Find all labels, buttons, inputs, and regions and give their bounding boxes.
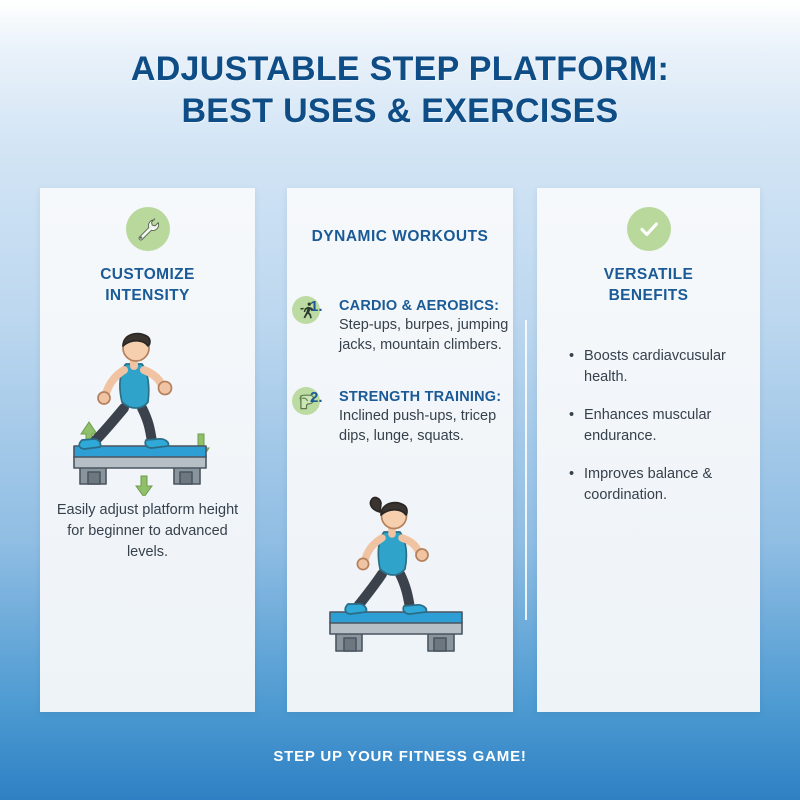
left-column-heading: CUSTOMIZE INTENSITY <box>48 264 247 306</box>
column-card-dynamic-workouts: DYNAMIC WORKOUTS 1. CARDIO & AEROBICS: <box>287 188 513 712</box>
list-item: Boosts cardiavcusular health. <box>569 346 749 388</box>
title-line-2: BEST USES & EXERCISES <box>0 90 800 132</box>
list-item: Improves balance & coordination. <box>569 464 749 506</box>
title-line-1: ADJUSTABLE STEP PLATFORM: <box>0 48 800 90</box>
wrench-icon <box>126 207 170 251</box>
list-item: 1. CARDIO & AEROBICS: Step-ups, burpes, … <box>289 298 513 355</box>
workout-list: 1. CARDIO & AEROBICS: Step-ups, burpes, … <box>289 298 513 470</box>
footer-text: STEP UP YOUR FITNESS GAME! <box>273 748 526 765</box>
list-item-body: Inclined push-ups, tricep dips, lunge, s… <box>339 406 513 446</box>
infographic-poster: ADJUSTABLE STEP PLATFORM: BEST USES & EX… <box>0 0 800 800</box>
right-heading-line-2: BENEFITS <box>545 285 752 306</box>
list-item: 2. STRENGTH TRAINING: Inclined push-ups,… <box>289 389 513 446</box>
footer-banner: STEP UP YOUR FITNESS GAME! <box>0 712 800 800</box>
check-badge <box>537 207 760 251</box>
column-divider-2 <box>525 320 527 620</box>
columns-container: CUSTOMIZE INTENSITY <box>40 188 760 712</box>
column-card-customize-intensity: CUSTOMIZE INTENSITY <box>40 188 255 712</box>
man-on-step-platform-illustration <box>62 316 234 496</box>
page-title: ADJUSTABLE STEP PLATFORM: BEST USES & EX… <box>0 48 800 132</box>
right-heading-line-1: VERSATILE <box>545 264 752 285</box>
left-heading-line-2: INTENSITY <box>48 285 247 306</box>
benefits-list: Boosts cardiavcusular health. Enhances m… <box>569 346 749 523</box>
list-item-number: 2. <box>310 389 323 406</box>
list-item-body: Step-ups, burpes, jumping jacks, mountai… <box>339 315 513 355</box>
right-column-heading: VERSATILE BENEFITS <box>545 264 752 306</box>
woman-on-step-platform-illustration <box>322 486 480 661</box>
wrench-badge <box>40 207 255 251</box>
column-card-versatile-benefits: VERSATILE BENEFITS Boosts cardiavcusular… <box>537 188 760 712</box>
list-item: Enhances muscular endurance. <box>569 405 749 447</box>
list-item-heading: STRENGTH TRAINING: <box>339 389 513 405</box>
list-item-heading: CARDIO & AEROBICS: <box>339 298 513 314</box>
list-item-number: 1. <box>310 298 323 315</box>
check-circle-icon <box>627 207 671 251</box>
middle-column-heading: DYNAMIC WORKOUTS <box>287 228 513 246</box>
left-column-body: Easily adjust platform height for beginn… <box>52 500 243 563</box>
left-heading-line-1: CUSTOMIZE <box>48 264 247 285</box>
